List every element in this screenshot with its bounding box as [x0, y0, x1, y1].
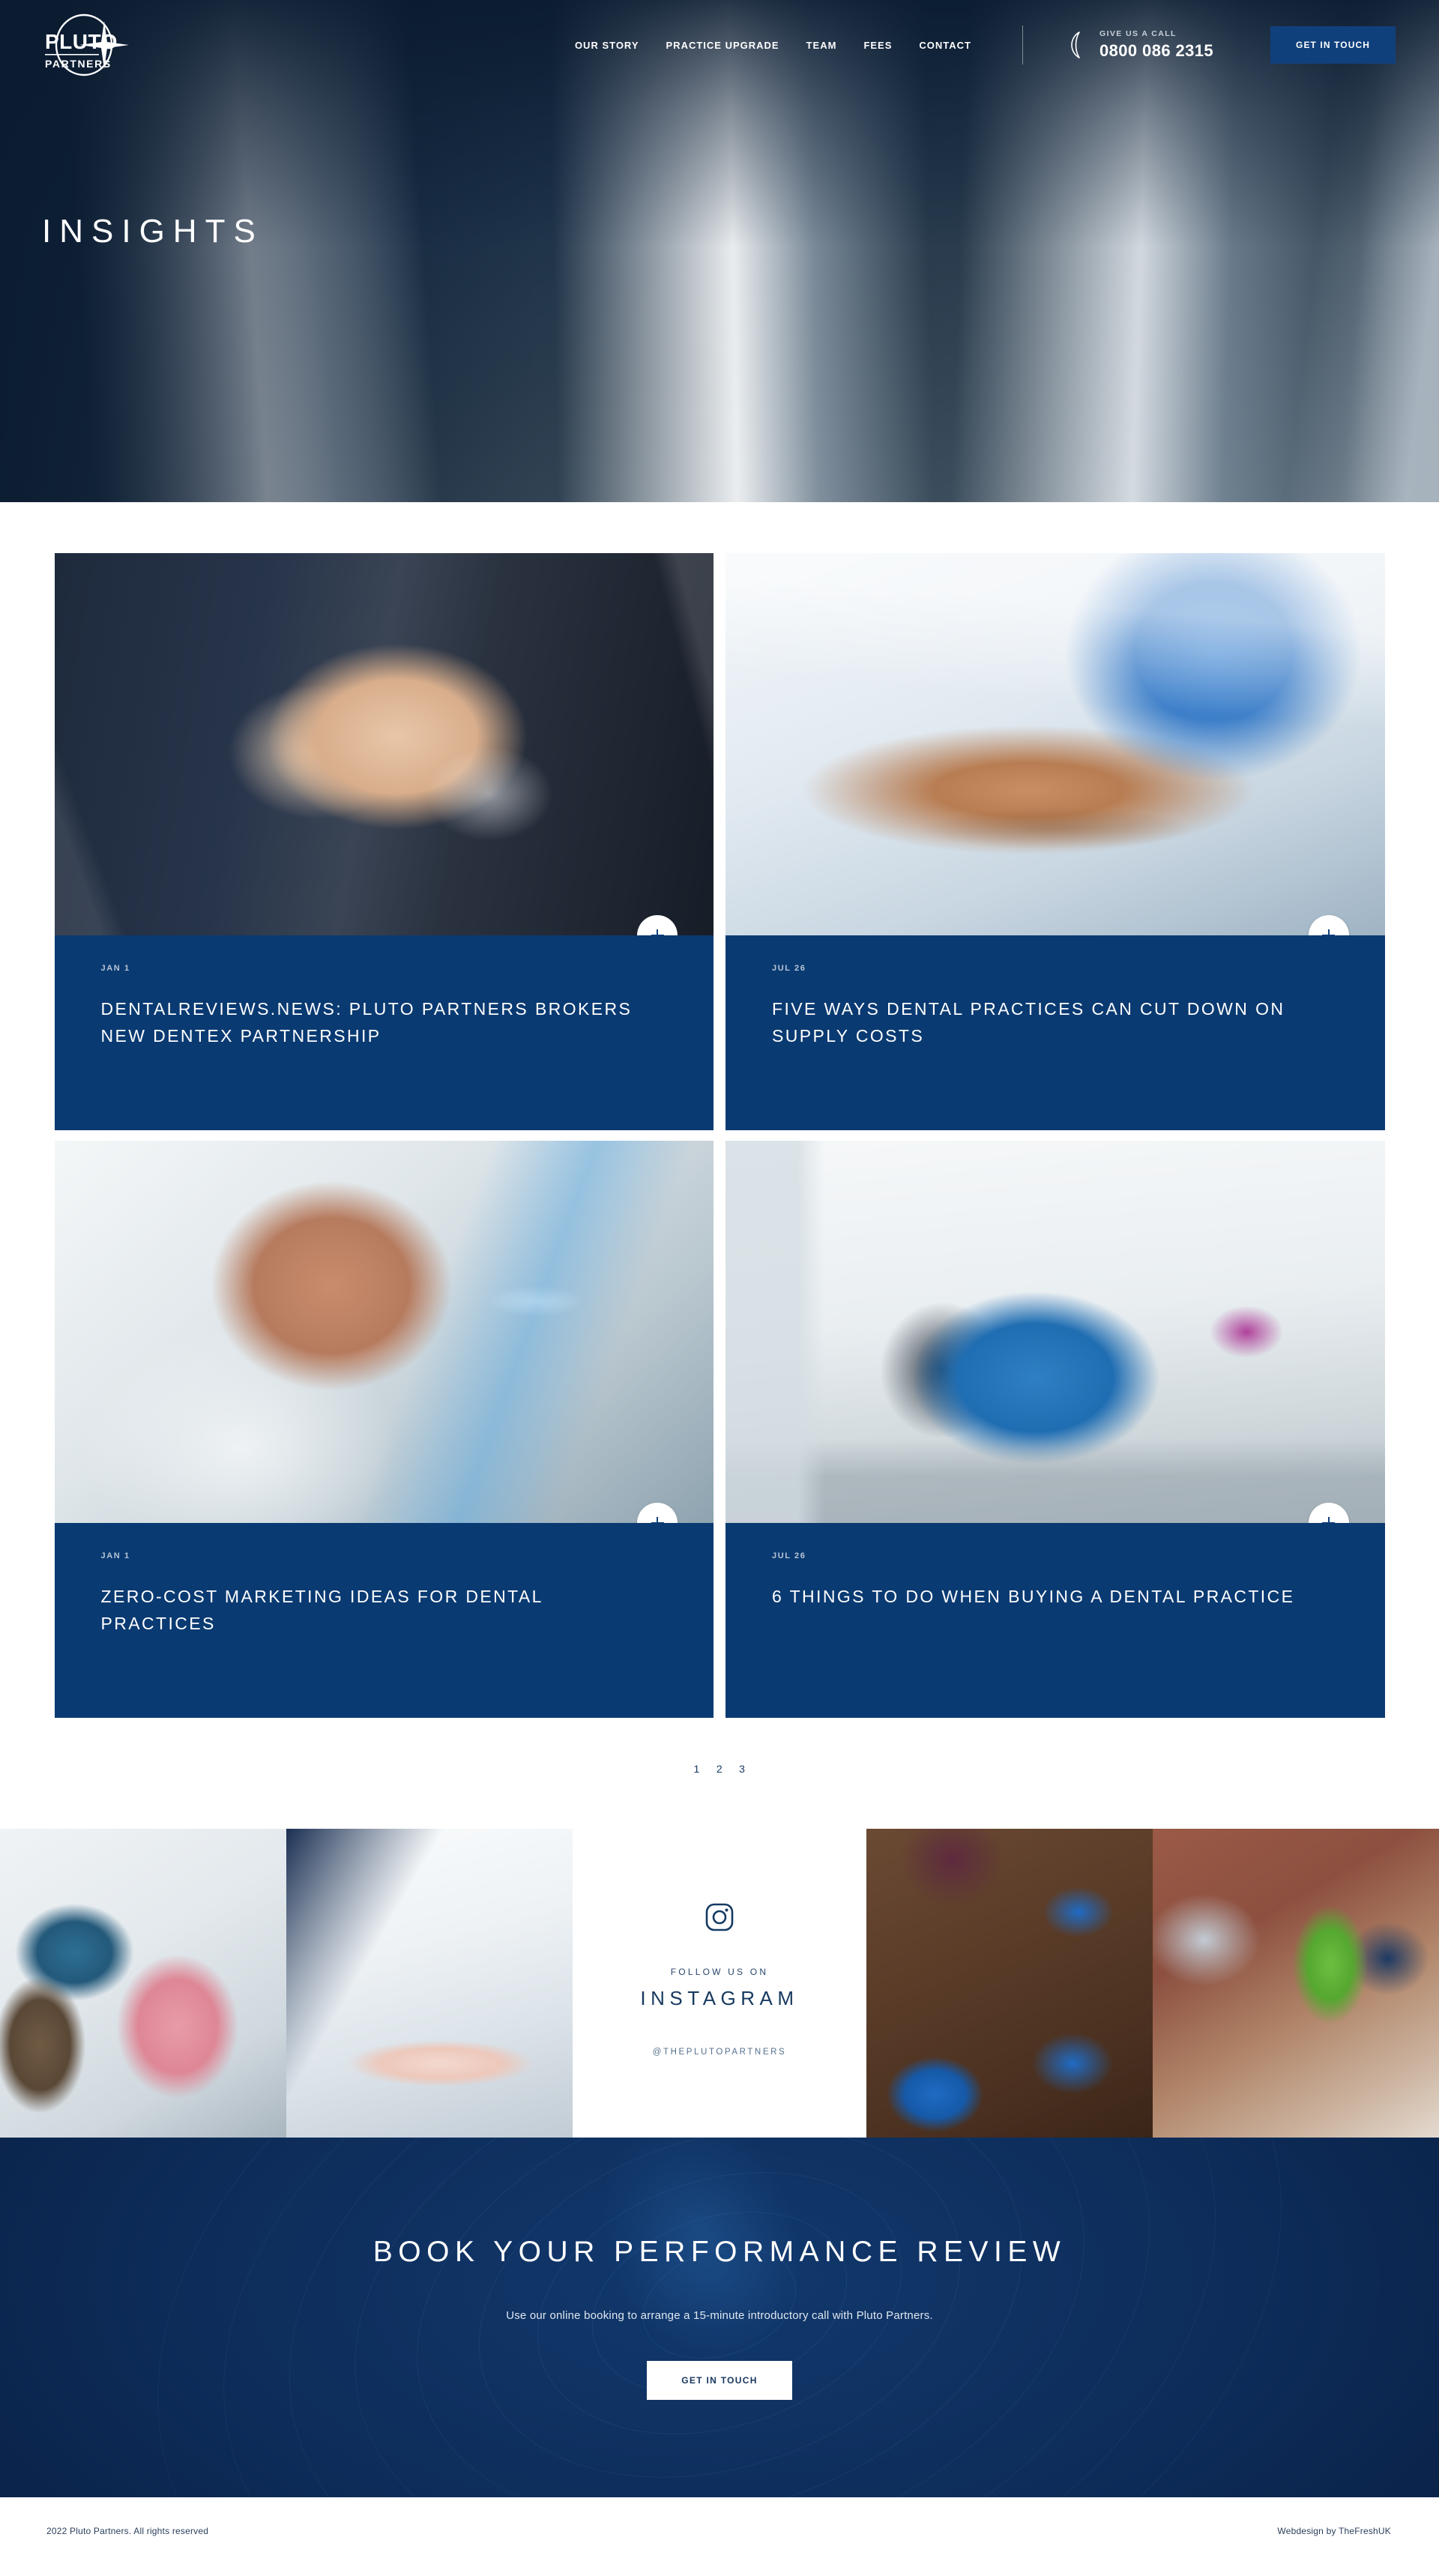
- nav-item-our-story[interactable]: OUR STORY: [575, 40, 639, 51]
- instagram-follow-label: FOLLOW US ON: [671, 1967, 768, 1977]
- article-date: JUL 26: [772, 1551, 1337, 1560]
- articles-grid: JAN 1 DENTALREVIEWS.NEWS: PLUTO PARTNERS…: [55, 553, 1385, 1718]
- site-header: PLUTO PARTNERS OUR STORY PRACTICE UPGRAD…: [0, 0, 1439, 90]
- article-image: [725, 553, 1385, 935]
- book-cta-subtitle: Use our online booking to arrange a 15-m…: [506, 2309, 933, 2322]
- pagination: 1 2 3: [0, 1718, 1439, 1829]
- plus-icon: [1322, 929, 1335, 936]
- instagram-photo[interactable]: [866, 1829, 1153, 2138]
- page-title: INSIGHTS: [42, 213, 264, 250]
- book-cta-title: BOOK YOUR PERFORMANCE REVIEW: [373, 2236, 1066, 2269]
- instagram-photo[interactable]: [0, 1829, 286, 2138]
- article-card[interactable]: JUL 26 6 THINGS TO DO WHEN BUYING A DENT…: [725, 1141, 1385, 1718]
- main-navigation: OUR STORY PRACTICE UPGRADE TEAM FEES CON…: [575, 25, 1396, 64]
- header-get-in-touch-button[interactable]: GET IN TOUCH: [1270, 26, 1396, 64]
- phone-icon: [1070, 31, 1089, 59]
- pagination-page-1[interactable]: 1: [694, 1763, 700, 1775]
- pagination-page-2[interactable]: 2: [717, 1763, 722, 1775]
- phone-label: GIVE US A CALL: [1099, 29, 1213, 38]
- insights-page: PLUTO PARTNERS OUR STORY PRACTICE UPGRAD…: [0, 0, 1439, 2565]
- article-image: [725, 1141, 1385, 1523]
- article-date: JAN 1: [101, 1551, 666, 1560]
- header-divider: [1022, 25, 1023, 64]
- book-review-section: BOOK YOUR PERFORMANCE REVIEW Use our onl…: [0, 2138, 1439, 2497]
- instagram-photo[interactable]: [286, 1829, 573, 2138]
- site-footer: 2022 Pluto Partners. All rights reserved…: [0, 2497, 1439, 2565]
- plus-icon: [651, 929, 664, 936]
- instagram-section: FOLLOW US ON INSTAGRAM @THEPLUTOPARTNERS: [0, 1829, 1439, 2138]
- nav-item-contact[interactable]: CONTACT: [919, 40, 971, 51]
- article-title[interactable]: ZERO-COST MARKETING IDEAS FOR DENTAL PRA…: [101, 1583, 641, 1638]
- article-body: JUL 26 FIVE WAYS DENTAL PRACTICES CAN CU…: [725, 935, 1385, 1130]
- phone-link[interactable]: GIVE US A CALL 0800 086 2315: [1070, 29, 1213, 61]
- article-body: JUL 26 6 THINGS TO DO WHEN BUYING A DENT…: [725, 1523, 1385, 1718]
- footer-credit[interactable]: Webdesign by TheFreshUK: [1277, 2526, 1391, 2536]
- plus-icon: [1322, 1517, 1335, 1524]
- nav-item-practice-upgrade[interactable]: PRACTICE UPGRADE: [666, 40, 779, 51]
- article-image: [55, 553, 714, 935]
- instagram-photo[interactable]: [1153, 1829, 1439, 2138]
- article-card[interactable]: JAN 1 DENTALREVIEWS.NEWS: PLUTO PARTNERS…: [55, 553, 714, 1130]
- article-body: JAN 1 DENTALREVIEWS.NEWS: PLUTO PARTNERS…: [55, 935, 714, 1130]
- article-image: [55, 1141, 714, 1523]
- article-date: JUL 26: [772, 964, 1337, 973]
- article-body: JAN 1 ZERO-COST MARKETING IDEAS FOR DENT…: [55, 1523, 714, 1718]
- article-date: JAN 1: [101, 964, 666, 973]
- article-card[interactable]: JUL 26 FIVE WAYS DENTAL PRACTICES CAN CU…: [725, 553, 1385, 1130]
- instagram-cta: FOLLOW US ON INSTAGRAM @THEPLUTOPARTNERS: [573, 1829, 866, 2138]
- instagram-network-name: INSTAGRAM: [640, 1987, 798, 2010]
- nav-item-team[interactable]: TEAM: [806, 40, 837, 51]
- article-card[interactable]: JAN 1 ZERO-COST MARKETING IDEAS FOR DENT…: [55, 1141, 714, 1718]
- hero-section: PLUTO PARTNERS OUR STORY PRACTICE UPGRAD…: [0, 0, 1439, 502]
- article-title[interactable]: DENTALREVIEWS.NEWS: PLUTO PARTNERS BROKE…: [101, 995, 641, 1050]
- pluto-star-logo-icon: PLUTO PARTNERS: [34, 13, 139, 76]
- nav-item-fees[interactable]: FEES: [863, 40, 892, 51]
- article-title[interactable]: 6 THINGS TO DO WHEN BUYING A DENTAL PRAC…: [772, 1583, 1312, 1610]
- pagination-page-3[interactable]: 3: [739, 1763, 745, 1775]
- svg-text:PLUTO: PLUTO: [45, 30, 118, 53]
- pluto-partners-logo[interactable]: PLUTO PARTNERS: [34, 13, 139, 76]
- articles-section: JAN 1 DENTALREVIEWS.NEWS: PLUTO PARTNERS…: [0, 502, 1439, 1829]
- plus-icon: [651, 1517, 664, 1524]
- book-cta-get-in-touch-button[interactable]: GET IN TOUCH: [647, 2361, 791, 2400]
- instagram-handle[interactable]: @THEPLUTOPARTNERS: [653, 2048, 787, 2057]
- instagram-icon[interactable]: [705, 1902, 734, 1932]
- footer-copyright: 2022 Pluto Partners. All rights reserved: [46, 2526, 208, 2536]
- phone-number: 0800 086 2315: [1099, 41, 1213, 61]
- svg-text:PARTNERS: PARTNERS: [45, 58, 112, 70]
- article-title[interactable]: FIVE WAYS DENTAL PRACTICES CAN CUT DOWN …: [772, 995, 1312, 1050]
